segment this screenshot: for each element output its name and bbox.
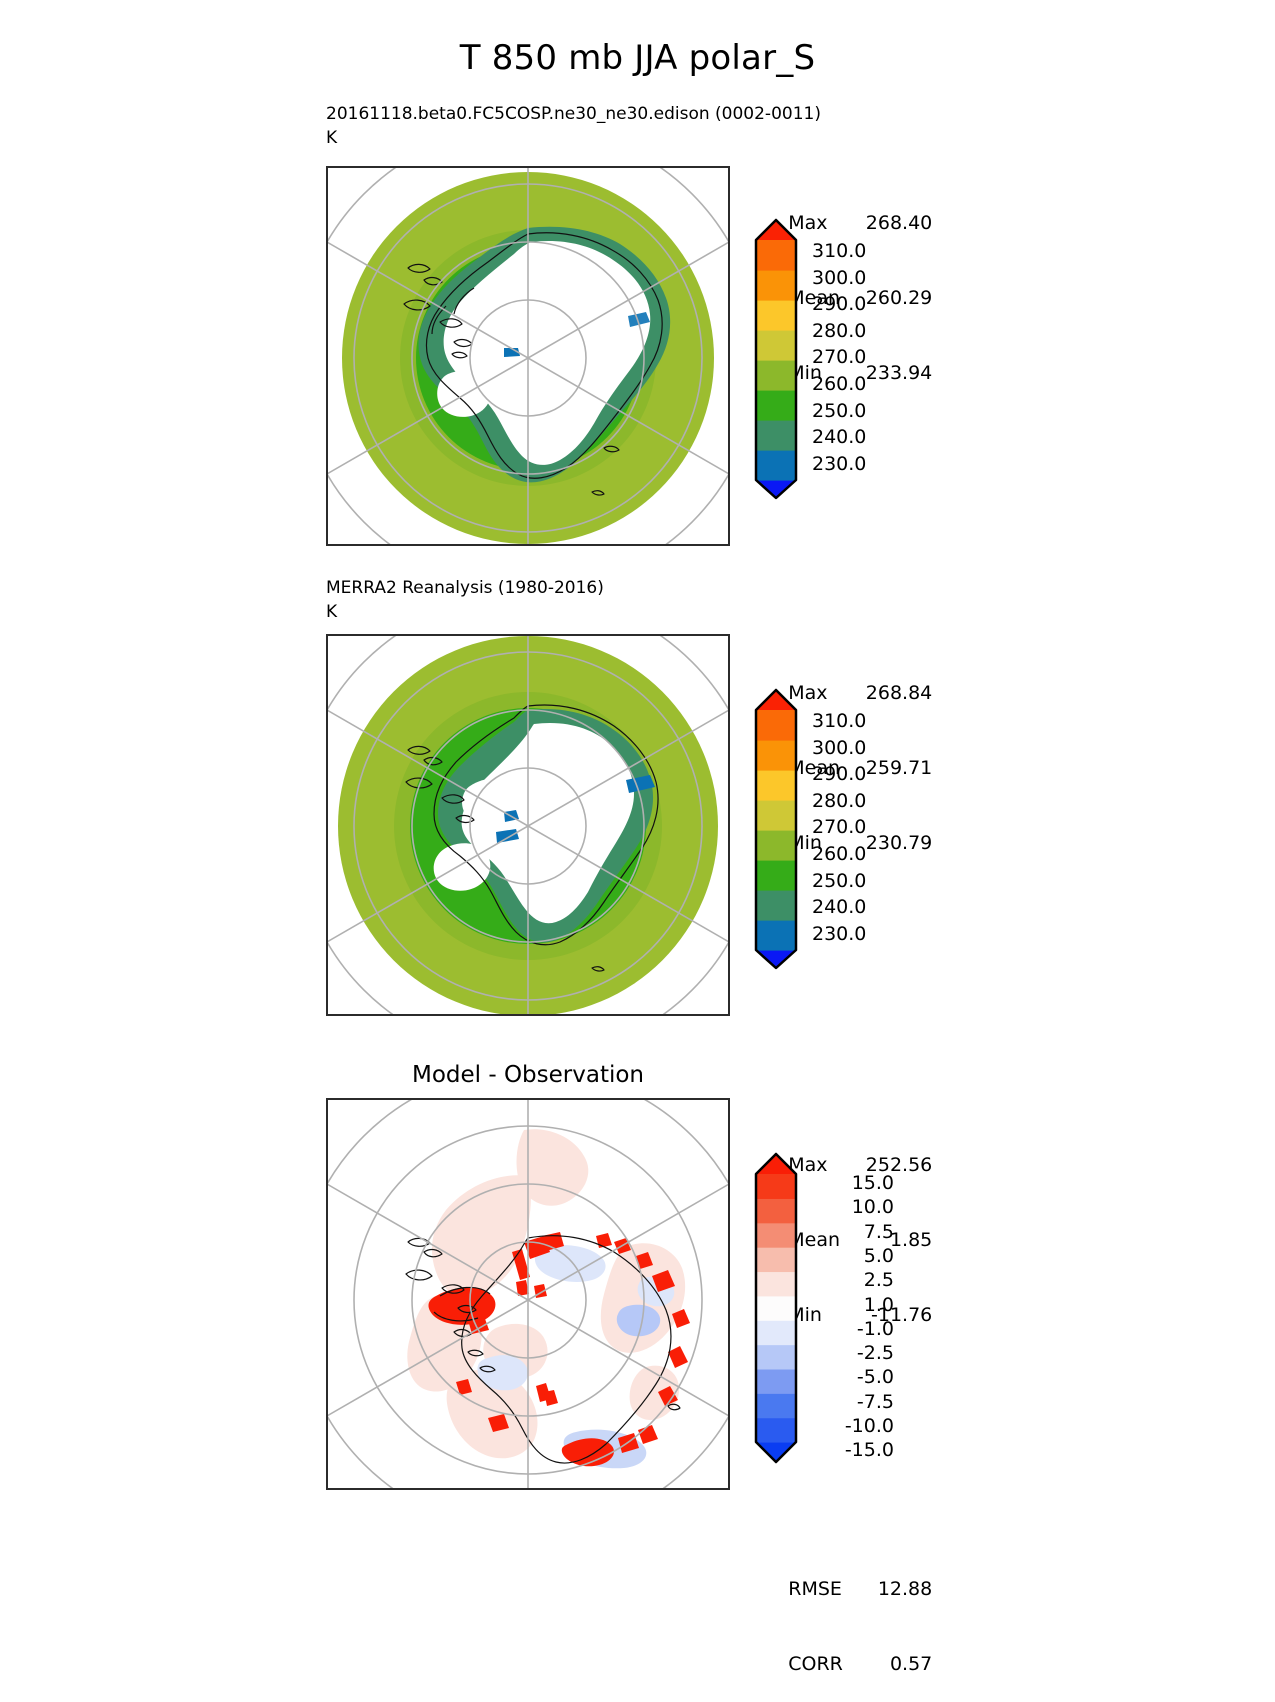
colorbar-tick-label: 250.0: [812, 870, 866, 892]
colorbar-tick-label: 260.0: [812, 373, 866, 395]
colorbar-band: [756, 360, 796, 391]
colorbar-swatches-difference: [750, 1152, 810, 1464]
colorbar-band: [756, 1174, 796, 1199]
colorbar-tick-label: 270.0: [812, 816, 866, 838]
colorbar-band: [756, 390, 796, 421]
panel-observation-units: K: [326, 602, 337, 622]
colorbar-band: [756, 920, 796, 951]
footer-stat-label: RMSE: [788, 1577, 860, 1602]
colorbar-tick-label: 15.0: [808, 1172, 894, 1194]
colorbar-tick-label: 290.0: [812, 293, 866, 315]
colorbar-tick-label: -1.0: [808, 1318, 894, 1340]
colorbar-band: [756, 800, 796, 831]
colorbar-band: [756, 770, 796, 801]
colorbar-tick-label: -5.0: [808, 1366, 894, 1388]
panel-model-map: [326, 166, 730, 546]
colorbar-tick-label: -7.5: [808, 1391, 894, 1413]
colorbar-band: [756, 1223, 796, 1248]
colorbar-tick-label: 10.0: [808, 1196, 894, 1218]
colorbar-band: [756, 890, 796, 921]
colorbar-band: [756, 240, 796, 271]
colorbar-tick-label: -2.5: [808, 1342, 894, 1364]
panel-difference-subtitle: Model - Observation: [326, 1062, 730, 1088]
polar-map-difference: [328, 1100, 728, 1488]
colorbar-band-max: [756, 690, 796, 710]
colorbar-tick-label: 260.0: [812, 843, 866, 865]
colorbar-tick-label: 310.0: [812, 710, 866, 732]
colorbar-band-min: [756, 480, 796, 498]
colorbar-tick-label: 280.0: [812, 790, 866, 812]
colorbar-band: [756, 1247, 796, 1272]
polar-map-model: [328, 168, 728, 544]
colorbar-band: [756, 1345, 796, 1370]
colorbar-band-max: [756, 220, 796, 240]
footer-stat-value: 12.88: [860, 1577, 932, 1602]
stat-row: Max268.40: [752, 186, 932, 211]
colorbar-band-max: [756, 1154, 796, 1174]
colorbar-tick-label: 250.0: [812, 400, 866, 422]
colorbar-band: [756, 1271, 796, 1296]
colorbar-tick-label: 1.0: [808, 1294, 894, 1316]
colorbar-band: [756, 860, 796, 891]
panel-observation-subtitle: MERRA2 Reanalysis (1980-2016): [326, 578, 604, 598]
colorbar-tick-label: 5.0: [808, 1245, 894, 1267]
colorbar-band: [756, 450, 796, 481]
colorbar-band: [756, 1418, 796, 1443]
colorbar-tick-label: 230.0: [812, 923, 866, 945]
polar-map-observation: [328, 636, 728, 1014]
colorbar-swatches-model: [750, 218, 810, 500]
colorbar-tick-label: 290.0: [812, 763, 866, 785]
colorbar-tick-label: 7.5: [808, 1221, 894, 1243]
colorbar-band: [756, 270, 796, 301]
panel-observation-map: [326, 634, 730, 1016]
colorbar-tick-label: 310.0: [812, 240, 866, 262]
colorbar-tick-label: 240.0: [812, 426, 866, 448]
panel-difference-colorbar: 15.010.07.55.02.51.0-1.0-2.5-5.0-7.5-10.…: [750, 1152, 900, 1464]
colorbar-band: [756, 420, 796, 451]
colorbar-tick-label: 300.0: [812, 737, 866, 759]
footer-stat-label: CORR: [788, 1652, 860, 1677]
colorbar-band: [756, 330, 796, 361]
stat-row: Max268.84: [752, 656, 932, 681]
figure-title: T 850 mb JJA polar_S: [0, 38, 1275, 78]
colorbar-band: [756, 830, 796, 861]
colorbar-band-min: [756, 1442, 796, 1462]
footer-stat-row: CORR0.57: [752, 1627, 932, 1652]
panel-difference-footer-stats: RMSE12.88 CORR0.57: [752, 1502, 932, 1702]
colorbar-band: [756, 1198, 796, 1223]
panel-model-colorbar: 310.0300.0290.0280.0270.0260.0250.0240.0…: [750, 218, 900, 500]
colorbar-band: [756, 1393, 796, 1418]
colorbar-tick-label: 270.0: [812, 346, 866, 368]
colorbar-band: [756, 740, 796, 771]
panel-difference-map: [326, 1098, 730, 1490]
colorbar-tick-label: -15.0: [808, 1439, 894, 1461]
colorbar-tick-label: 240.0: [812, 896, 866, 918]
colorbar-band: [756, 1296, 796, 1321]
colorbar-band: [756, 1369, 796, 1394]
colorbar-band: [756, 1320, 796, 1345]
colorbar-band: [756, 300, 796, 331]
colorbar-tick-label: 2.5: [808, 1269, 894, 1291]
stat-row: Max252.56: [752, 1128, 932, 1153]
footer-stat-value: 0.57: [860, 1652, 932, 1677]
colorbar-tick-label: 280.0: [812, 320, 866, 342]
colorbar-swatches-observation: [750, 688, 810, 970]
colorbar-band: [756, 710, 796, 741]
colorbar-tick-label: 230.0: [812, 453, 866, 475]
colorbar-band-min: [756, 950, 796, 968]
footer-stat-row: RMSE12.88: [752, 1552, 932, 1577]
panel-observation-colorbar: 310.0300.0290.0280.0270.0260.0250.0240.0…: [750, 688, 900, 970]
colorbar-tick-label: 300.0: [812, 267, 866, 289]
panel-model-units: K: [326, 128, 337, 148]
colorbar-tick-label: -10.0: [808, 1415, 894, 1437]
panel-model-subtitle: 20161118.beta0.FC5COSP.ne30_ne30.edison …: [326, 104, 821, 124]
